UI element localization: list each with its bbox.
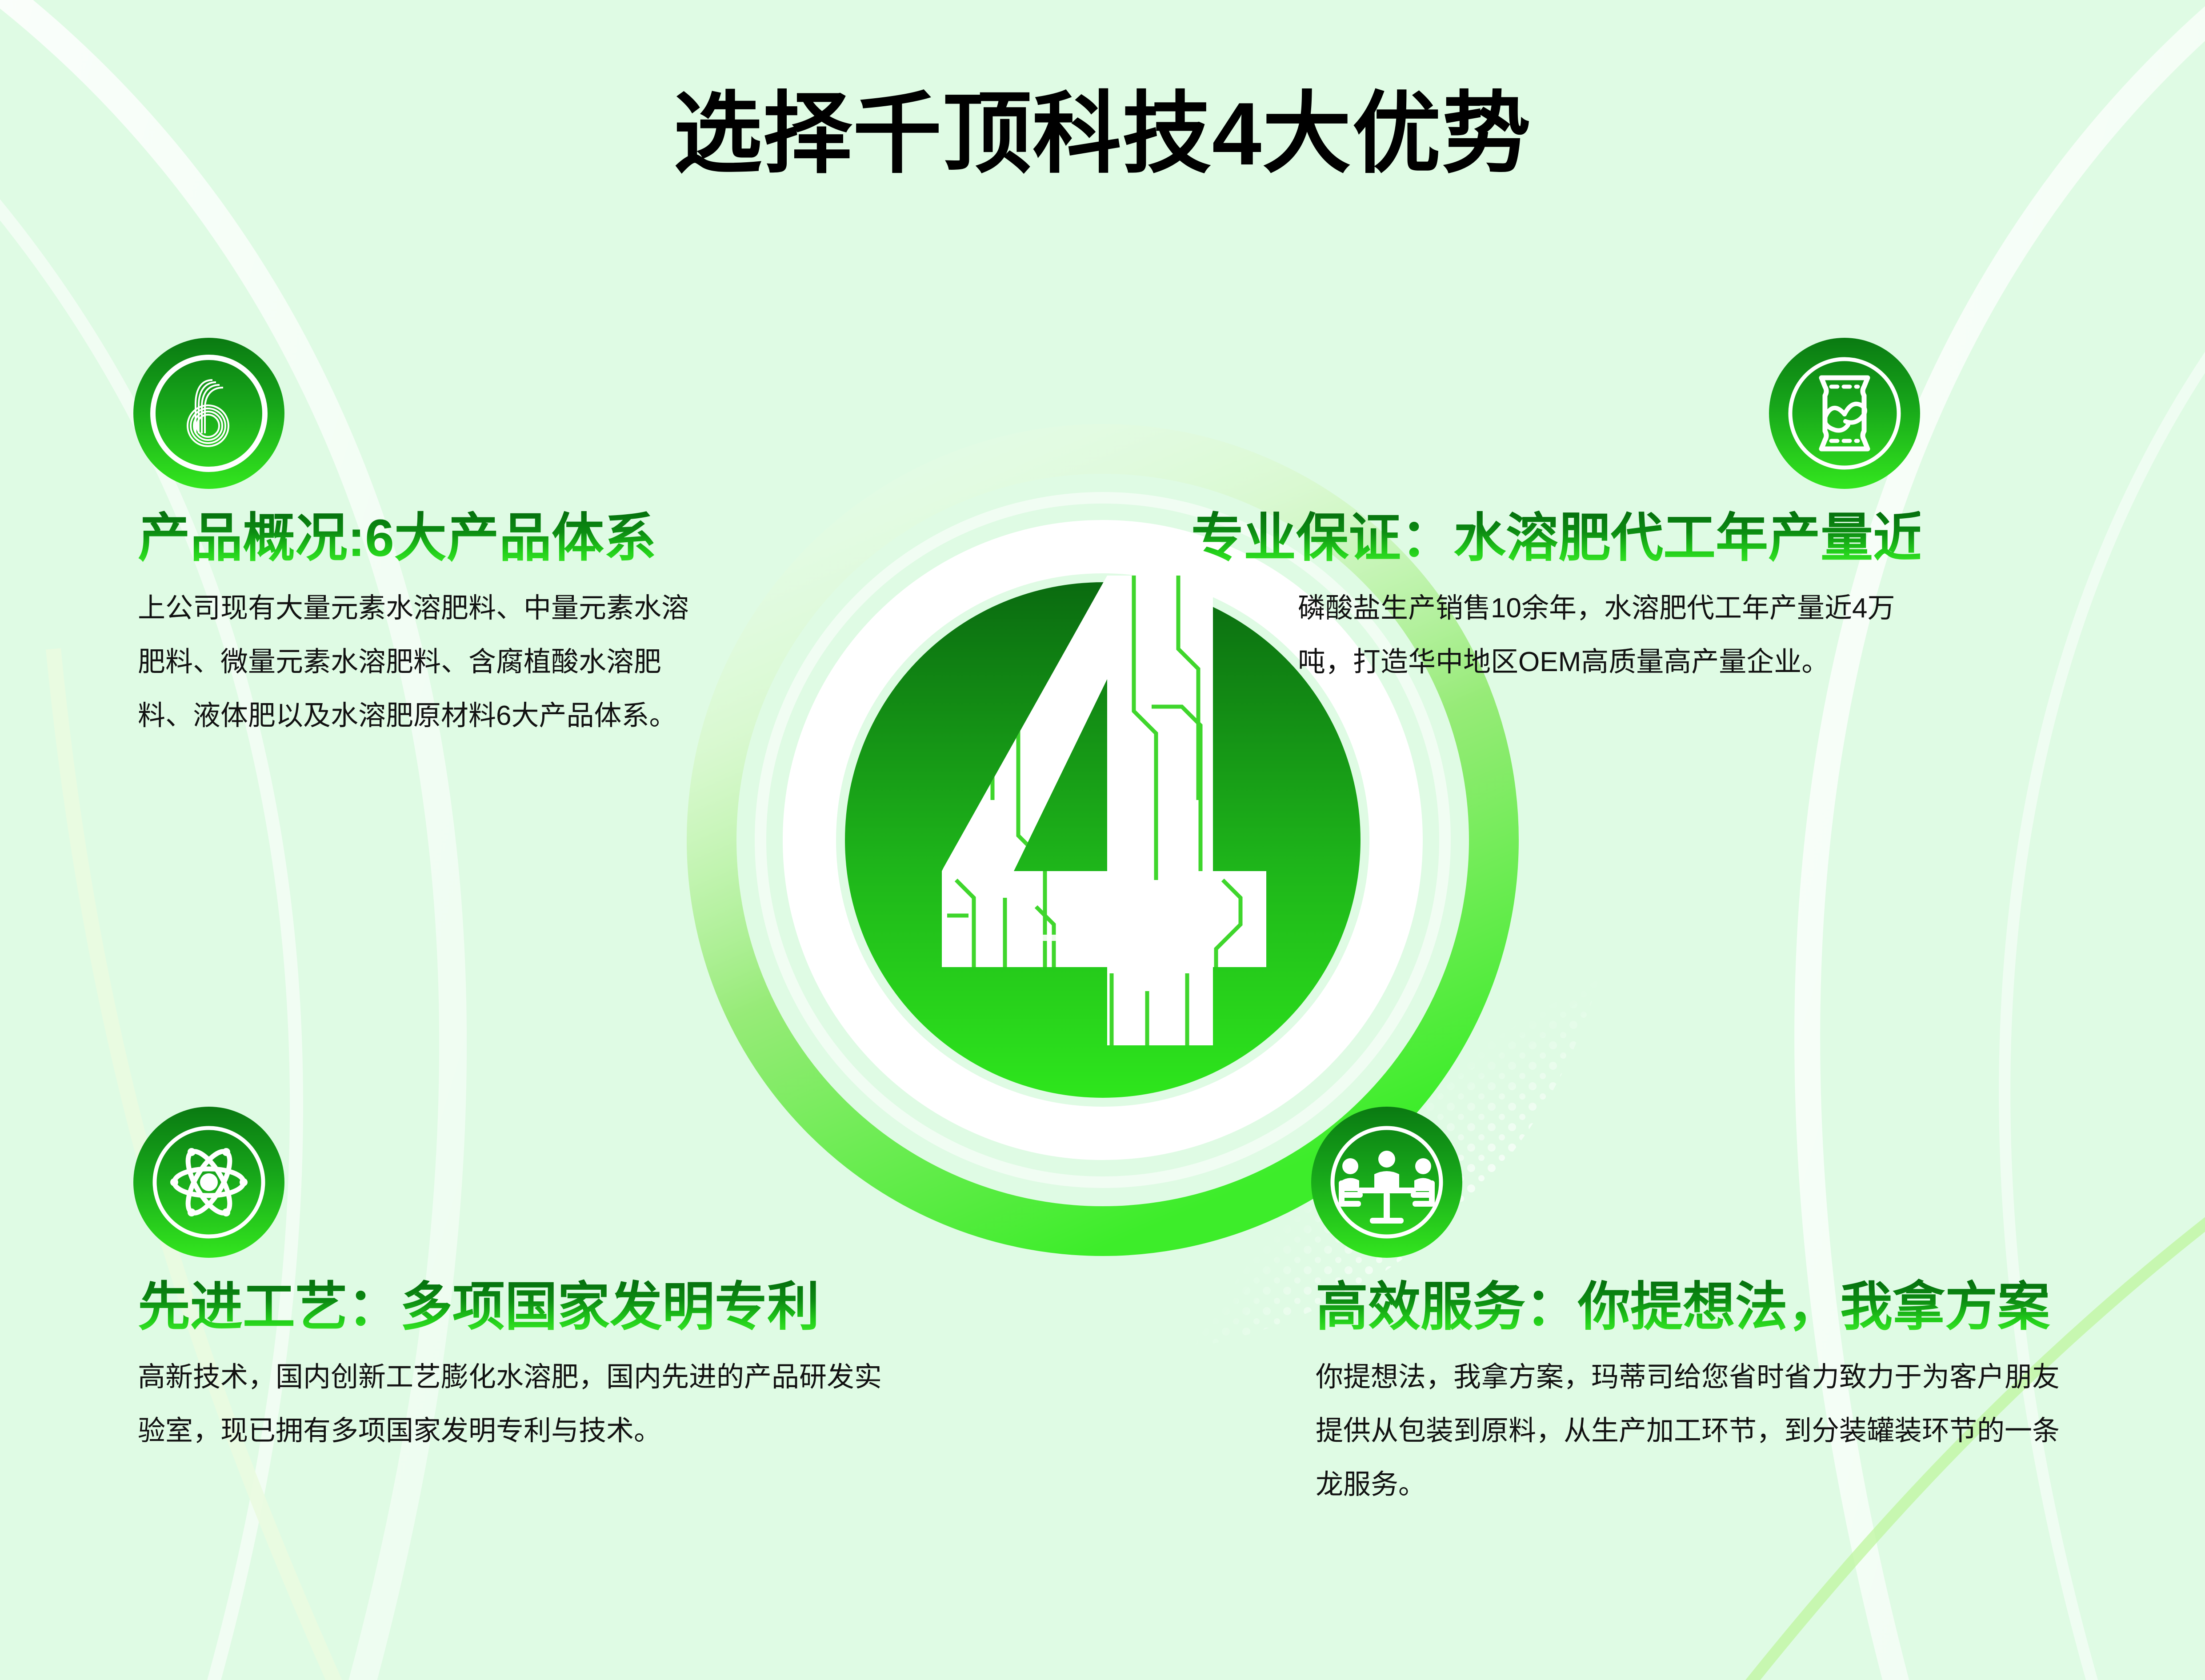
advantage-heading-bottom-right: 高效服务：你提想法，我拿方案: [1316, 1276, 2076, 1338]
advantage-body-bottom-right: 你提想法，我拿方案，玛蒂司给您省时省力致力于为客户朋友提供从包装到原料，从生产加…: [1316, 1351, 2062, 1512]
advantage-heading-top-left: 产品概况:6大产品体系: [138, 508, 711, 569]
icon-wrapper-top-right: [1769, 338, 1920, 489]
advantage-body-top-left: 上公司现有大量元素水溶肥料、中量元素水溶肥料、微量元素水溶肥料、含腐植酸水溶肥料…: [138, 582, 698, 743]
page-title: 选择千顶科技4大优势: [0, 84, 2205, 184]
icon-wrapper-bottom-right: [1311, 1107, 1462, 1258]
advantage-body-bottom-left: 高新技术，国内创新工艺膨化水溶肥，国内先进的产品研发实验室，现已拥有多项国家发明…: [138, 1351, 884, 1458]
team-meeting-icon: [1311, 1107, 1462, 1258]
infographic-canvas: 选择千顶科技4大优势: [0, 0, 2205, 1680]
advantage-body-top-right: 磷酸盐生产销售10余年，水溶肥代工年产量近4万吨，打造华中地区OEM高质量高产量…: [1298, 582, 1920, 689]
icon-wrapper-top-left: [133, 338, 284, 489]
advantage-heading-bottom-left: 先进工艺：多项国家发明专利: [138, 1276, 898, 1338]
atom-icon: [133, 1107, 284, 1258]
number-six-icon: [133, 338, 284, 489]
icon-wrapper-bottom-left: [133, 1107, 284, 1258]
advantage-block-top-left: 产品概况:6大产品体系 上公司现有大量元素水溶肥料、中量元素水溶肥料、微量元素水…: [133, 338, 711, 743]
advantage-block-bottom-left: 先进工艺：多项国家发明专利 高新技术，国内创新工艺膨化水溶肥，国内先进的产品研发…: [133, 1107, 898, 1458]
advantage-block-bottom-right: 高效服务：你提想法，我拿方案 你提想法，我拿方案，玛蒂司给您省时省力致力于为客户…: [1311, 1107, 2076, 1512]
fertilizer-bag-icon: [1769, 338, 1920, 489]
advantage-block-top-right: 专业保证：水溶肥代工年产量近4万吨 磷酸盐生产销售10余年，水溶肥代工年产量近4…: [1191, 338, 1920, 689]
advantage-heading-top-right: 专业保证：水溶肥代工年产量近4万吨: [1191, 508, 1920, 569]
